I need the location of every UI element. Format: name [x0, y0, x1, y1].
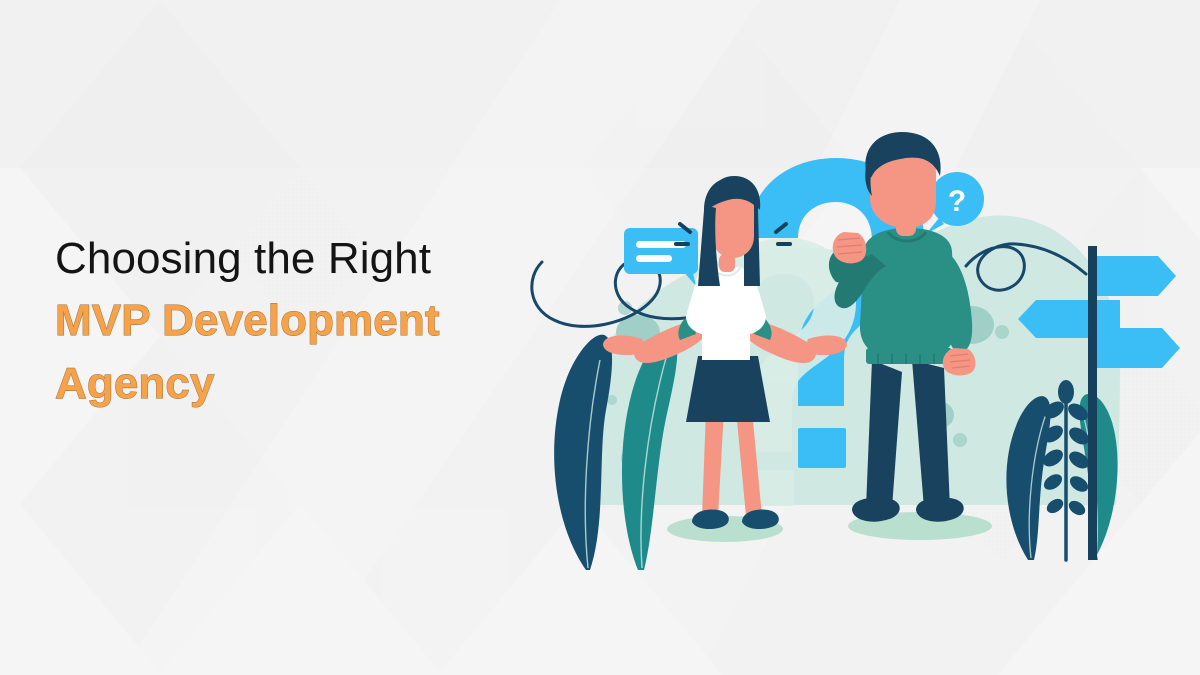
- headline-line-3: Agency: [55, 353, 525, 415]
- thought-bubble-glyph: ?: [948, 185, 966, 218]
- banner-root: Choosing the Right MVP Development Agenc…: [0, 0, 1200, 675]
- headline-line-2: MVP Development: [55, 290, 525, 352]
- signpost-post: [1088, 246, 1097, 560]
- headline-block: Choosing the Right MVP Development Agenc…: [55, 228, 525, 415]
- hero-illustration: ?: [520, 110, 1180, 570]
- signpost-arrow-top-right: [1096, 256, 1176, 296]
- signpost-arrow-bottom-right: [1096, 328, 1180, 368]
- headline-line-1: Choosing the Right: [55, 228, 525, 290]
